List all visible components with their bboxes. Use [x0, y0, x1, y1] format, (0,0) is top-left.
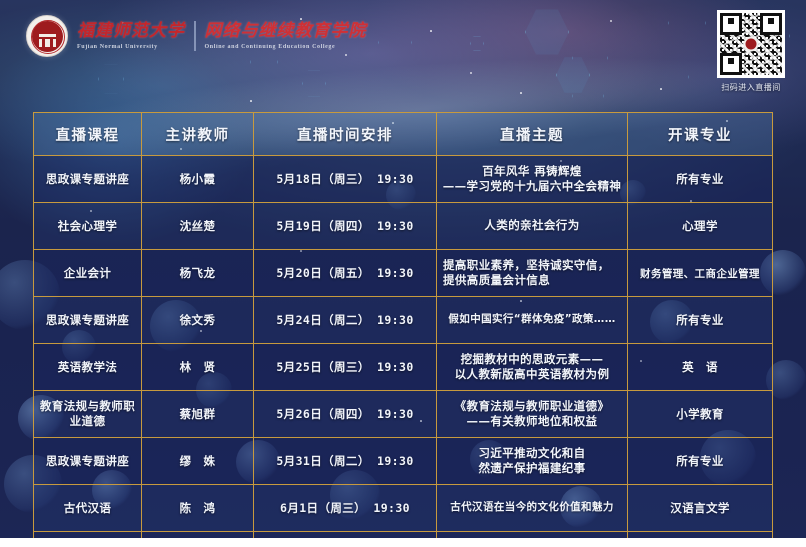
cell-course: 教育法规与教师职业道德 [34, 391, 142, 438]
qr-code-image[interactable] [717, 10, 785, 78]
university-name-block: 福建师范大学 Fujian Normal University [77, 23, 185, 50]
column-header-time: 直播时间安排 [254, 113, 437, 156]
cell-time: 5月20日（周五） 19:30 [254, 250, 437, 297]
table-row: 古代汉语 陈 鸿 6月1日（周三） 19:30 古代汉语在当今的文化价值和魅力 … [34, 485, 773, 532]
cell-course: 思政课专题讲座 [34, 156, 142, 203]
university-crest-icon [26, 15, 68, 57]
qr-finder-icon [720, 13, 742, 35]
cell-teacher: 沈丝楚 [142, 203, 254, 250]
cell-time: 5月24日（周二） 19:30 [254, 297, 437, 344]
topic-line-1: 挖掘教材中的思政元素—— [440, 352, 624, 367]
university-name-en: Fujian Normal University [77, 44, 185, 50]
cell-teacher: 蔡旭群 [142, 391, 254, 438]
logo-divider [194, 21, 196, 51]
topic-line-2: 提供高质量会计信息 [443, 273, 624, 288]
star-dot [610, 20, 612, 22]
cell-topic: 百年风华 再铸辉煌 ——学习党的十九届六中全会精神 [437, 156, 628, 203]
qr-caption: 扫码进入直播间 [714, 82, 788, 93]
cell-course: 社会心理学 [34, 203, 142, 250]
table-row: 思政课专题讲座 徐文秀 5月24日（周二） 19:30 假如中国实行“群体免疫”… [34, 297, 773, 344]
qr-finder-icon [720, 53, 742, 75]
topic-line-1: 《教育法规与教师职业道德》 [440, 399, 624, 414]
cell-time: 5月19日（周四） 19:30 [254, 203, 437, 250]
cell-major: 小学教育 [628, 391, 773, 438]
column-header-course: 直播课程 [34, 113, 142, 156]
cell-time: 6月1日（周三） 19:30 [254, 485, 437, 532]
topic-line-1: 习近平推动文化和自 [440, 446, 624, 461]
topic-line-2: ——有关教师地位和权益 [440, 414, 624, 429]
brand-wordmark: 福建师范大学 Fujian Normal University 网络与继续教育学… [77, 21, 367, 51]
cell-course: 思政课专题讲座 [34, 438, 142, 485]
cell-course: 古代汉语 [34, 485, 142, 532]
cell-topic: 挖掘教材中的思政元素—— 以人教新版高中英语教材为例 [437, 344, 628, 391]
cell-time: 5月26日（周四） 19:30 [254, 391, 437, 438]
qr-logo-icon [744, 37, 759, 52]
crest-ring [31, 20, 65, 54]
table-row: 英语教学法 林 贤 5月25日（周三） 19:30 挖掘教材中的思政元素—— 以… [34, 344, 773, 391]
table-header: 直播课程 主讲教师 直播时间安排 直播主题 开课专业 [34, 113, 773, 156]
column-header-major: 开课专业 [628, 113, 773, 156]
cell-time: 5月25日（周三） 19:30 [254, 344, 437, 391]
cell-topic: 提高职业素养，坚持诚实守信， 提供高质量会计信息 [437, 250, 628, 297]
cell-teacher: 徐文秀 [142, 297, 254, 344]
cell-teacher: 林 贤 [142, 344, 254, 391]
cell-topic: 《教育法规与教师职业道德》 ——有关教师地位和权益 [437, 391, 628, 438]
table-row: 企业会计 杨飞龙 5月20日（周五） 19:30 提高职业素养，坚持诚实守信， … [34, 250, 773, 297]
topic-line-1: 提高职业素养，坚持诚实守信， [443, 258, 624, 273]
live-schedule-poster: 福建师范大学 Fujian Normal University 网络与继续教育学… [0, 0, 806, 547]
star-dot [520, 92, 522, 94]
column-header-topic: 直播主题 [437, 113, 628, 156]
cell-topic: 习近平推动文化和自 然遗产保护福建纪事 [437, 438, 628, 485]
topic-line-1: 古代汉语在当今的文化价值和魅力 [440, 501, 624, 515]
cell-teacher: 杨小霞 [142, 156, 254, 203]
column-header-teacher: 主讲教师 [142, 113, 254, 156]
cell-course: 企业会计 [34, 250, 142, 297]
cell-course: 思政课专题讲座 [34, 297, 142, 344]
topic-line-1: 百年风华 再铸辉煌 [440, 164, 624, 179]
college-name-block: 网络与继续教育学院 Online and Continuing Educatio… [205, 23, 367, 50]
cell-time: 5月18日（周三） 19:30 [254, 156, 437, 203]
star-dot [660, 88, 662, 90]
cell-major: 汉语言文学 [628, 485, 773, 532]
bottom-white-strip [0, 538, 806, 547]
cell-major: 所有专业 [628, 438, 773, 485]
cell-topic: 人类的亲社会行为 [437, 203, 628, 250]
brand-logo: 福建师范大学 Fujian Normal University 网络与继续教育学… [26, 15, 367, 57]
topic-line-2: ——学习党的十九届六中全会精神 [440, 179, 624, 194]
star-dot [250, 100, 252, 102]
cell-topic: 假如中国实行“群体免疫”政策…… [437, 297, 628, 344]
cell-major: 英 语 [628, 344, 773, 391]
topic-line-2: 然遗产保护福建纪事 [440, 461, 624, 476]
star-dot [470, 72, 472, 74]
cell-major: 财务管理、工商企业管理 [628, 250, 773, 297]
live-schedule-table: 直播课程 主讲教师 直播时间安排 直播主题 开课专业 思政课专题讲座 杨小霞 5… [33, 112, 773, 547]
cell-course: 英语教学法 [34, 344, 142, 391]
qr-code-block[interactable]: 扫码进入直播间 [714, 10, 788, 93]
cell-major: 所有专业 [628, 297, 773, 344]
topic-line-1: 假如中国实行“群体免疫”政策…… [440, 313, 624, 327]
table-header-row: 直播课程 主讲教师 直播时间安排 直播主题 开课专业 [34, 113, 773, 156]
qr-finder-icon [760, 13, 782, 35]
cell-major: 心理学 [628, 203, 773, 250]
university-name-cn: 福建师范大学 [77, 23, 185, 40]
cell-teacher: 杨飞龙 [142, 250, 254, 297]
cell-teacher: 缪 姝 [142, 438, 254, 485]
college-name-cn: 网络与继续教育学院 [205, 23, 367, 40]
cell-major: 所有专业 [628, 156, 773, 203]
table-body: 思政课专题讲座 杨小霞 5月18日（周三） 19:30 百年风华 再铸辉煌 ——… [34, 156, 773, 547]
table-row: 思政课专题讲座 缪 姝 5月31日（周二） 19:30 习近平推动文化和自 然遗… [34, 438, 773, 485]
table-row: 思政课专题讲座 杨小霞 5月18日（周三） 19:30 百年风华 再铸辉煌 ——… [34, 156, 773, 203]
topic-line-2: 以人教新版高中英语教材为例 [440, 367, 624, 382]
cell-topic: 古代汉语在当今的文化价值和魅力 [437, 485, 628, 532]
topic-line-1: 人类的亲社会行为 [440, 218, 624, 233]
college-name-en: Online and Continuing Education College [205, 44, 367, 50]
table-row: 社会心理学 沈丝楚 5月19日（周四） 19:30 人类的亲社会行为 心理学 [34, 203, 773, 250]
table-row: 教育法规与教师职业道德 蔡旭群 5月26日（周四） 19:30 《教育法规与教师… [34, 391, 773, 438]
cell-teacher: 陈 鸿 [142, 485, 254, 532]
star-dot [430, 30, 432, 32]
cell-time: 5月31日（周二） 19:30 [254, 438, 437, 485]
